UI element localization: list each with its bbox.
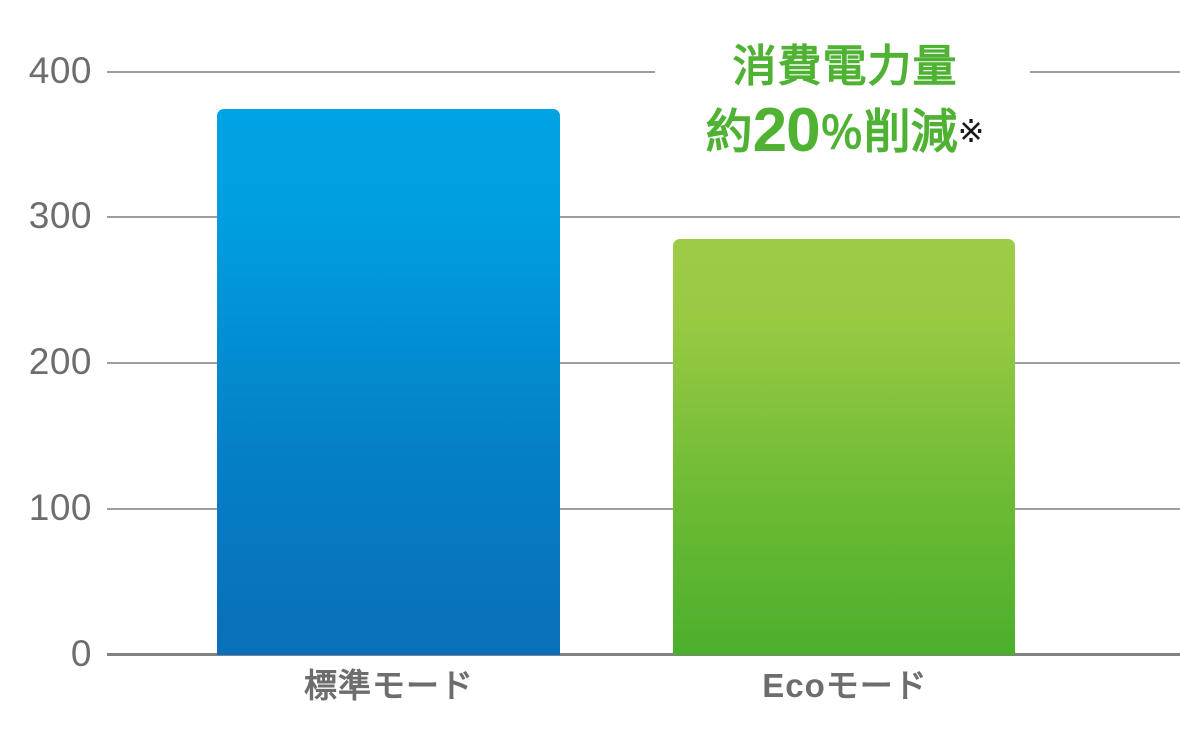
reduction-annotation: 消費電力量 約20％削減※	[660, 44, 1030, 163]
bar-eco-mode	[673, 239, 1015, 655]
bar-standard-mode	[217, 109, 560, 655]
gridline-400-right	[1030, 71, 1180, 73]
annotation-number: 20	[753, 96, 820, 165]
y-axis-tick-300: 300	[0, 197, 92, 234]
y-axis-tick-400: 400	[0, 52, 92, 89]
annotation-percent-sign: ％	[820, 109, 864, 158]
gridline-400-left	[107, 71, 655, 73]
annotation-prefix: 約	[706, 105, 753, 158]
annotation-footnote-mark: ※	[958, 113, 985, 149]
y-axis-tick-100: 100	[0, 489, 92, 526]
x-axis-label-eco-mode: Ecoモード	[669, 669, 1021, 702]
y-axis-tick-200: 200	[0, 343, 92, 380]
bar-chart: 400 300 200 100 0 標準モード Ecoモード 消費電力量 約20…	[0, 0, 1180, 738]
annotation-line-1: 消費電力量	[660, 44, 1030, 90]
y-axis-tick-0: 0	[0, 635, 92, 672]
annotation-line-2: 約20％削減※	[660, 98, 1030, 163]
annotation-suffix: 削減	[864, 105, 958, 158]
x-axis-label-standard-mode: 標準モード	[213, 669, 565, 702]
